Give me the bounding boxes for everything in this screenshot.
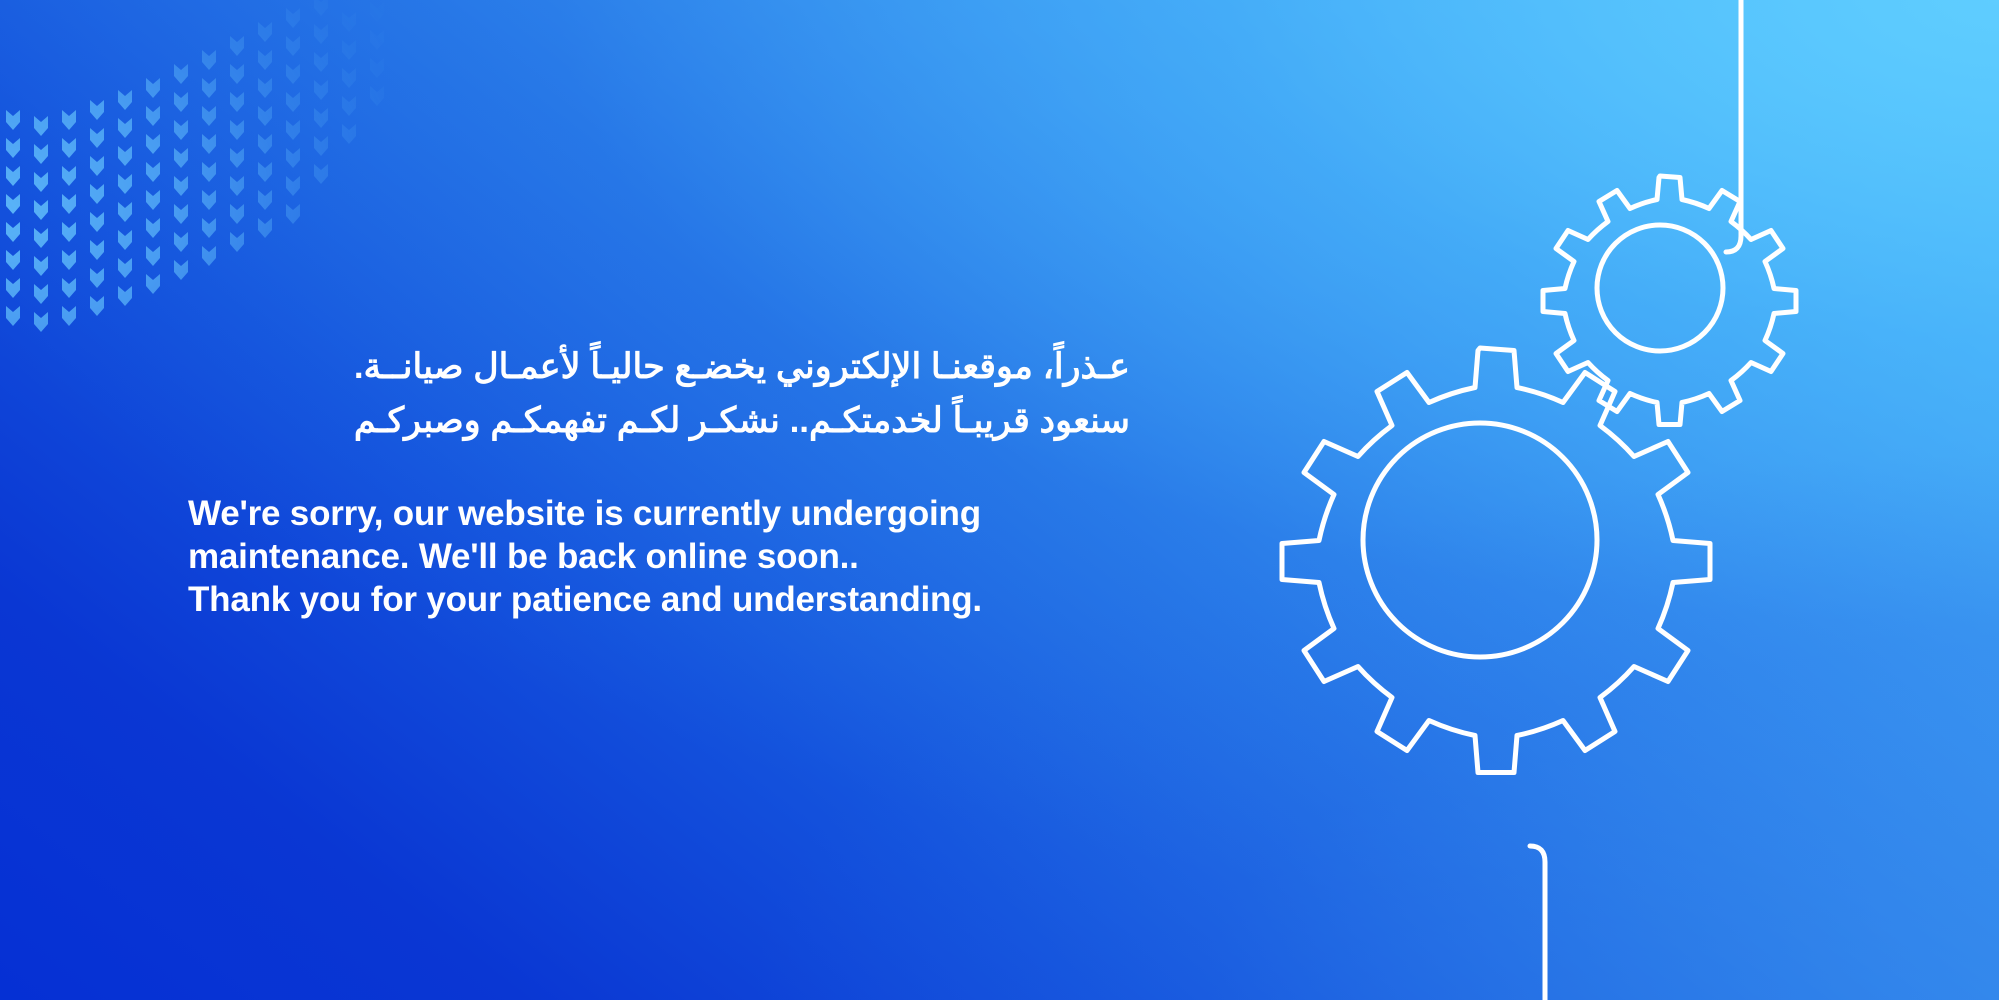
maintenance-page: عـذراً، موقعنـا الإلكتروني يخضـع حاليـاً… <box>0 0 1999 1000</box>
arabic-line-2: سنعود قريبـاً لخدمتكـم.. نشكـر لكـم تفهم… <box>0 394 1130 448</box>
english-message: We're sorry, our website is currently un… <box>0 492 1130 621</box>
arabic-line-1: عـذراً، موقعنـا الإلكتروني يخضـع حاليـاً… <box>0 340 1130 394</box>
english-line-3: Thank you for your patience and understa… <box>188 578 1130 621</box>
maintenance-message: عـذراً، موقعنـا الإلكتروني يخضـع حاليـاً… <box>0 340 1130 621</box>
english-line-1: We're sorry, our website is currently un… <box>188 492 1130 535</box>
arabic-message: عـذراً، موقعنـا الإلكتروني يخضـع حاليـاً… <box>0 340 1130 448</box>
english-line-2: maintenance. We'll be back online soon.. <box>188 535 1130 578</box>
